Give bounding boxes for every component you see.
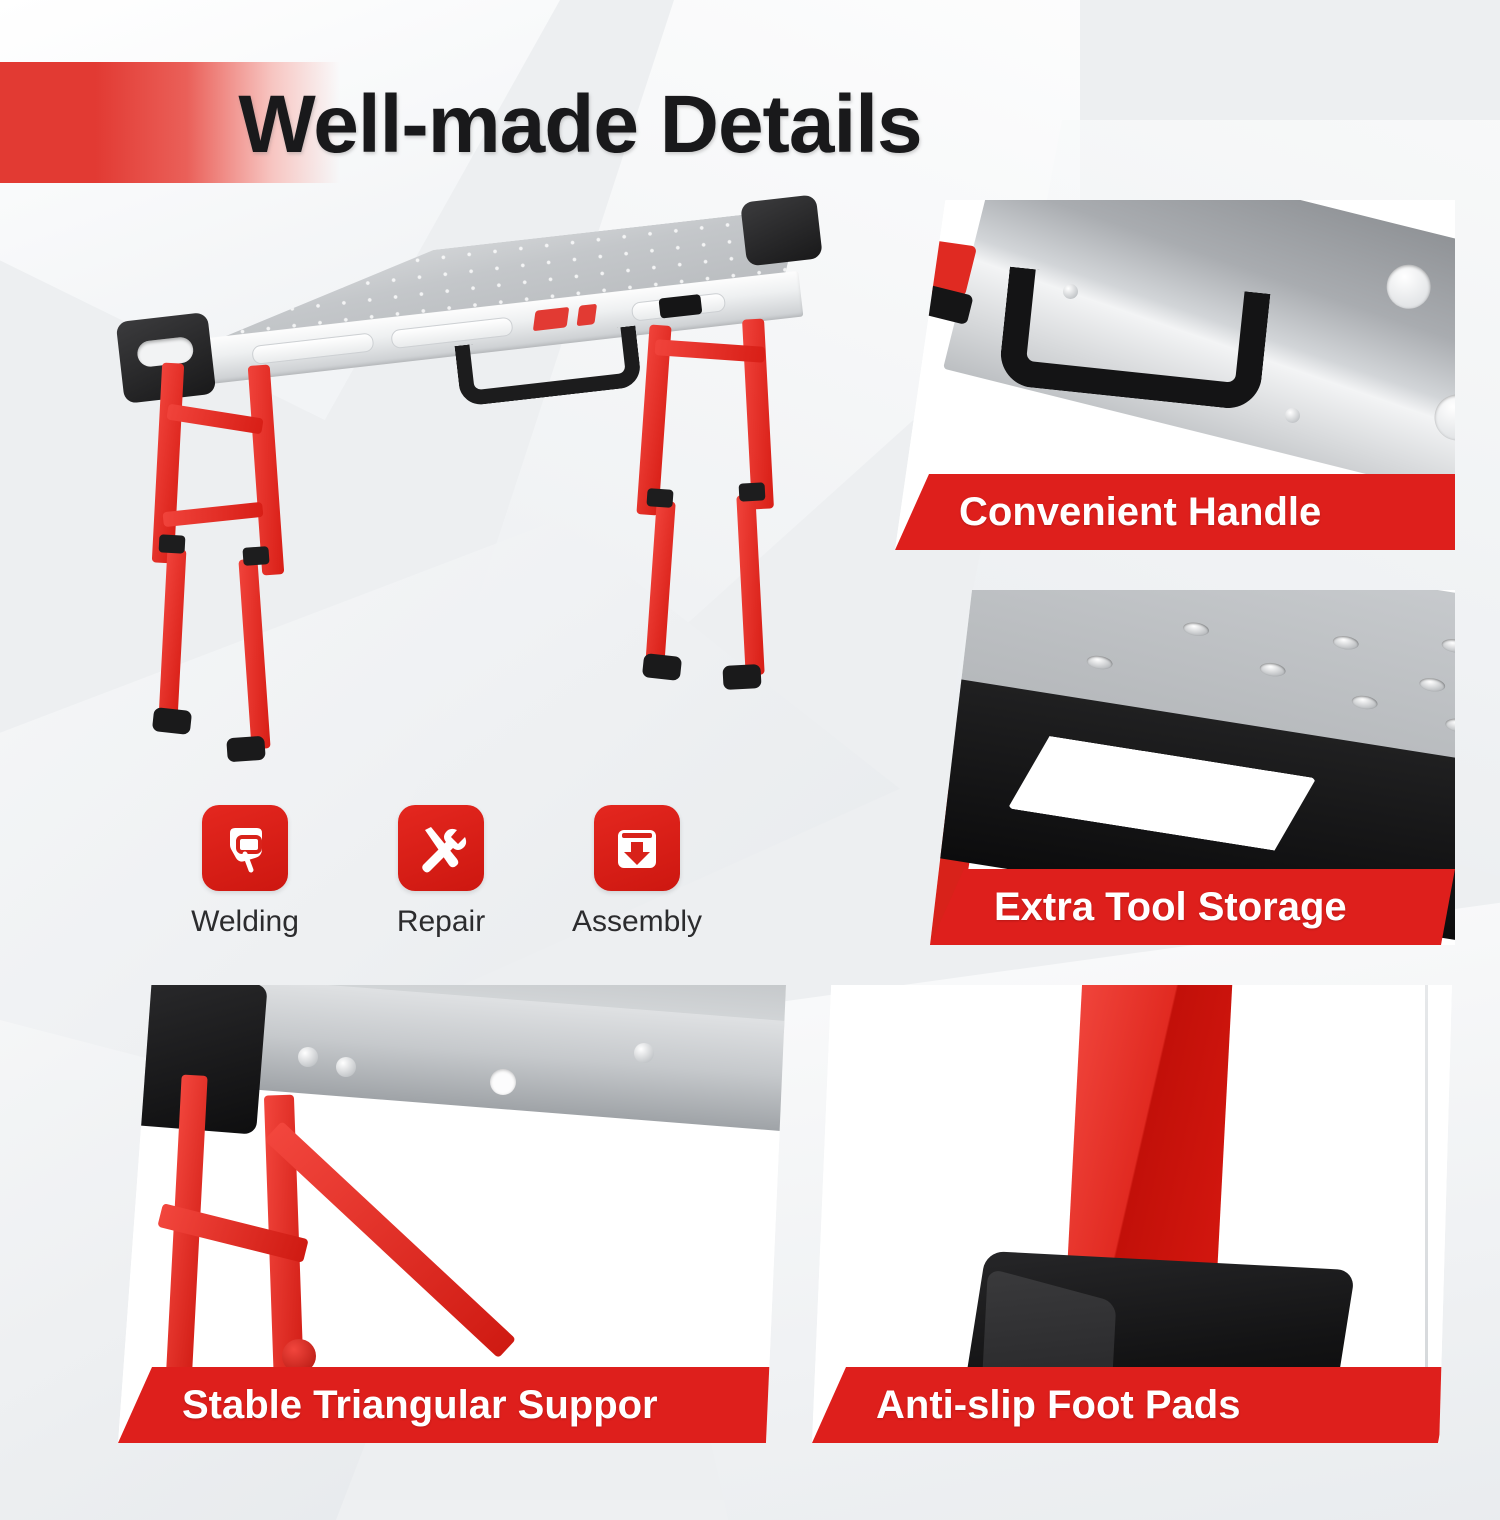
panel-caption-foot: Anti-slip Foot Pads <box>812 1367 1452 1443</box>
tabletop-hole <box>1005 590 1033 591</box>
leg-brace-left-lower <box>162 502 263 527</box>
detail-panel-handle: Convenient Handle <box>895 200 1455 550</box>
panel-caption-storage: Extra Tool Storage <box>930 869 1455 945</box>
detail-panel-storage: Extra Tool Storage <box>930 590 1455 945</box>
foot-pad <box>226 736 266 763</box>
leg-collar <box>739 482 766 501</box>
header: Well-made Details <box>0 0 1500 200</box>
tabletop-hole <box>1430 390 1455 446</box>
leg-front-right-lower <box>645 501 675 667</box>
feature-label: Repair <box>397 905 485 939</box>
leg-collar <box>242 546 269 566</box>
tabletop-hole <box>1086 654 1114 671</box>
leg-collar <box>159 534 186 553</box>
foot-pad <box>642 653 682 681</box>
leg-rear-left-lower <box>238 559 270 750</box>
rail-red-accent <box>577 304 598 326</box>
leg-front-left-lower <box>159 549 187 720</box>
tabletop-hole <box>1441 637 1455 654</box>
rail-black-insert <box>658 294 702 319</box>
apron-hole <box>490 1069 516 1095</box>
tabletop-hole <box>1351 694 1379 711</box>
tabletop-hole <box>1182 621 1210 638</box>
box-down-arrow-icon <box>594 805 680 891</box>
tabletop-hole <box>1382 260 1435 313</box>
panel-caption-handle: Convenient Handle <box>895 474 1455 550</box>
tabletop-hole <box>1332 634 1360 651</box>
leg-rear-right-lower <box>736 495 764 676</box>
page-title: Well-made Details <box>0 60 1160 190</box>
tabletop-hole <box>1259 661 1287 678</box>
detail-panel-foot: Anti-slip Foot Pads <box>812 985 1452 1443</box>
welding-helmet-icon <box>202 805 288 891</box>
apron-rivet <box>336 1057 356 1077</box>
panel-caption-support: Stable Triangular Suppor <box>118 1367 786 1443</box>
apron-rivet <box>634 1043 654 1063</box>
foot-pad <box>152 707 192 735</box>
tool-storage-slot <box>1008 731 1317 855</box>
tabletop-hole <box>1444 717 1455 734</box>
tabletop-hole <box>1418 676 1446 693</box>
rail-slot <box>251 332 374 365</box>
feature-assembly[interactable]: Assembly <box>582 805 692 970</box>
feature-label: Welding <box>191 905 299 939</box>
wrench-screwdriver-icon <box>398 805 484 891</box>
feature-label: Assembly <box>572 905 702 939</box>
feature-repair[interactable]: Repair <box>386 805 496 970</box>
handle-screw <box>1063 284 1078 299</box>
leg-rear-left-upper <box>248 364 285 575</box>
hero-product-image <box>95 215 855 775</box>
leg-brace-left <box>166 404 263 435</box>
detail-panel-support: Stable Triangular Suppor <box>118 985 786 1443</box>
rail-red-accent <box>533 307 569 331</box>
foot-pad <box>722 664 761 690</box>
feature-icon-row: Welding Repair Assembly <box>190 805 790 970</box>
handle-screw <box>1285 408 1300 423</box>
tabletop-end-cap-right <box>740 194 823 266</box>
workbench-tabletop <box>145 208 814 402</box>
leg-collar <box>646 488 673 508</box>
feature-welding[interactable]: Welding <box>190 805 300 970</box>
apron-rivet <box>298 1047 318 1067</box>
